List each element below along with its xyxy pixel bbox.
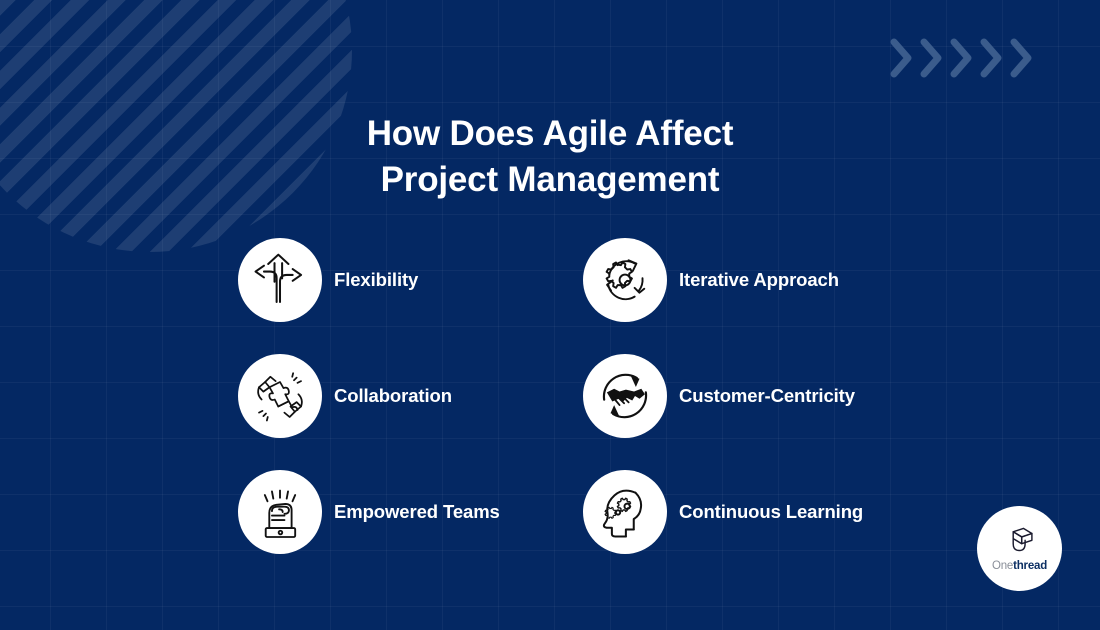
page-title-line-1: How Does Agile Affect [0, 111, 1100, 157]
icon-badge [238, 354, 322, 438]
puzzle-hands-icon [252, 368, 308, 424]
chevron-right-icon [918, 36, 946, 80]
chevron-right-icon [978, 36, 1006, 80]
icon-badge [583, 470, 667, 554]
page-title: How Does Agile Affect Project Management [0, 111, 1100, 203]
isometric-thread-logo-icon [1003, 525, 1037, 559]
icon-badge [583, 238, 667, 322]
feature-label: Iterative Approach [679, 269, 839, 291]
infographic-canvas: How Does Agile Affect Project Management [0, 0, 1100, 630]
icon-badge [238, 470, 322, 554]
feature-item-continuous-learning: Continuous Learning [583, 454, 928, 570]
feature-item-empowered-teams: Empowered Teams [238, 454, 583, 570]
chevron-right-icon [888, 36, 916, 80]
feature-label: Flexibility [334, 269, 418, 291]
brand-name-part1: One [992, 560, 1013, 572]
feature-item-customer-centricity: Customer-Centricity [583, 338, 928, 454]
head-gears-icon [597, 484, 653, 540]
feature-label: Customer-Centricity [679, 385, 855, 407]
icon-badge [583, 354, 667, 438]
raised-fist-icon [255, 483, 305, 541]
feature-item-flexibility: Flexibility [238, 222, 583, 338]
brand-logo-badge[interactable]: Onethread [977, 506, 1062, 591]
handshake-cycle-icon [596, 367, 654, 425]
chevron-decoration-group [888, 36, 1036, 80]
chevron-right-icon [948, 36, 976, 80]
feature-grid: Flexibility [238, 222, 998, 570]
feature-label: Collaboration [334, 385, 452, 407]
feature-label: Empowered Teams [334, 501, 500, 523]
feature-item-iterative-approach: Iterative Approach [583, 222, 928, 338]
brand-wordmark: Onethread [992, 561, 1047, 573]
icon-badge [238, 238, 322, 322]
feature-label: Continuous Learning [679, 501, 863, 523]
gear-cycle-icon [597, 252, 653, 308]
page-title-line-2: Project Management [0, 157, 1100, 203]
brand-name-part2: thread [1013, 560, 1047, 572]
three-way-arrows-icon [253, 253, 307, 307]
chevron-right-icon [1008, 36, 1036, 80]
feature-item-collaboration: Collaboration [238, 338, 583, 454]
